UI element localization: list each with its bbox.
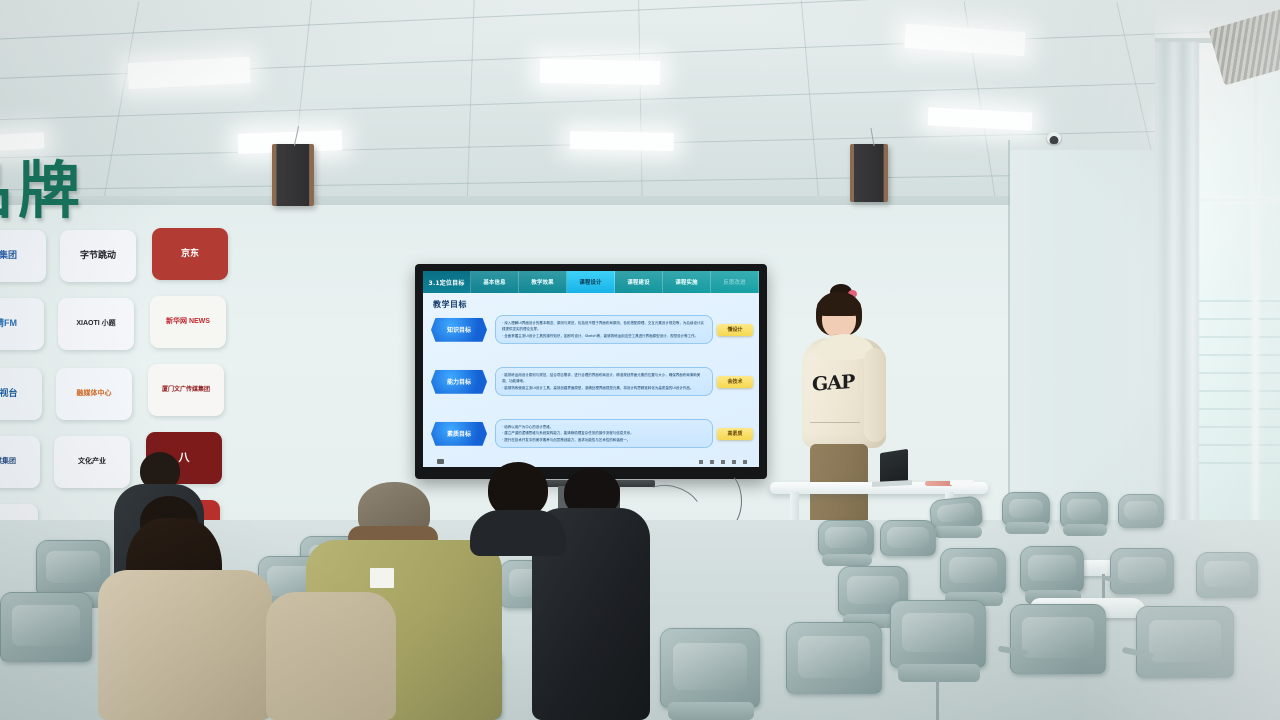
logo-label: 新华网 NEWS (166, 318, 210, 326)
tab-course-design[interactable]: 课程设计 (567, 271, 615, 293)
student-jacket-label (370, 568, 394, 588)
goal-line: · 深入理解UI界面设计的基本概念、原则与规范，包括但不限于界面布局原则、色彩搭… (502, 320, 706, 333)
presenter: GAP (786, 286, 898, 536)
classroom-scene: 品牌 集团 字节跳动 京东 蜻FM XIAOTI 小题 新华网 NEWS 电视台… (0, 0, 1280, 720)
logo-label: 电视台 (0, 389, 18, 399)
logo-label: XIAOTI 小题 (76, 320, 115, 328)
goal-row-ability: 能力目标 · 能熟练运用设计原则与规范，结合项目需求，进行合理的界面布局设计，精… (431, 367, 753, 396)
display-power-led (437, 459, 444, 464)
wall-corner (1008, 140, 1010, 550)
student-head-front-center (470, 462, 566, 552)
slide-heading: 教学目标 (433, 299, 467, 310)
presenter-hoodie-pocket (810, 422, 860, 445)
slide-tab-bar: 3.1定位目标 基本信息 教学效果 课程设计 课程建设 课程实施 反思改进 (423, 271, 759, 293)
logo-card: 集团 (0, 230, 46, 282)
student-coat (98, 570, 272, 720)
goal-pill-knowledge: 知识目标 (431, 318, 487, 342)
dome-camera-icon (1047, 132, 1061, 144)
wall-speaker-right (850, 144, 888, 202)
goal-tag-technology: 会技术 (717, 376, 753, 388)
ceiling-light (540, 59, 660, 85)
logo-card: 京东 (152, 228, 228, 280)
logo-card: 传媒集团 (0, 436, 40, 488)
logo-card: 新华网 NEWS (150, 296, 226, 348)
window-mullion-vertical (1253, 62, 1258, 522)
ceiling-light (570, 131, 674, 151)
goal-pill-ability: 能力目标 (431, 370, 487, 394)
presenter-hair-front (817, 296, 861, 316)
logo-label: 文化产业 (78, 458, 106, 466)
goal-bubble-quality: · 培养以用户为中心的设计思维。 · 建立严谨的逻辑思维与系统架构能力，能清晰梳… (495, 419, 713, 448)
student-coat (266, 592, 396, 720)
goal-line: · 能够熟练使用主流UI设计工具，高效创建界面原型，准确处理界面视觉元素，将设计… (502, 385, 706, 391)
presentation-display[interactable]: 3.1定位目标 基本信息 教学效果 课程设计 课程建设 课程实施 反思改进 教学… (415, 264, 767, 479)
goal-line: · 全面掌握主流UI设计工具的操作知识，如即时设计、Sketch等，能够熟练运用… (502, 333, 706, 339)
logo-label: 融媒体中心 (77, 390, 112, 398)
window-curtain (1155, 42, 1199, 560)
goal-row-knowledge: 知识目标 · 深入理解UI界面设计的基本概念、原则与规范，包括但不限于界面布局原… (431, 315, 753, 344)
goal-pill-quality: 素质目标 (431, 422, 487, 446)
goal-bubble-ability: · 能熟练运用设计原则与规范，结合项目需求，进行合理的界面布局设计，精准规划界面… (495, 367, 713, 396)
logo-label: 传媒集团 (0, 458, 16, 466)
wall-banner-text: 品牌 (0, 140, 86, 230)
tab-reflection-improvement[interactable]: 反思改进 (711, 271, 759, 293)
slide-screen: 3.1定位目标 基本信息 教学效果 课程设计 课程建设 课程实施 反思改进 教学… (423, 271, 759, 467)
student-right-edge (266, 592, 396, 720)
tab-locate-goal[interactable]: 3.1定位目标 (423, 271, 471, 293)
student-shoulders (470, 510, 566, 556)
tab-course-implementation[interactable]: 课程实施 (663, 271, 711, 293)
right-wall (1010, 150, 1160, 550)
logo-card: 融媒体中心 (56, 368, 132, 420)
goal-tag-quality: 高素质 (717, 428, 753, 440)
goal-tag-design: 懂设计 (717, 324, 753, 336)
student-beige-coat (92, 496, 272, 720)
presenter-arm (864, 348, 886, 442)
wall-speaker-left (272, 144, 314, 206)
desk-item-pink (925, 481, 953, 486)
goal-line: · 能熟练运用设计原则与规范，结合项目需求，进行合理的界面布局设计，精准规划界面… (502, 372, 706, 385)
goal-bubble-knowledge: · 深入理解UI界面设计的基本概念、原则与规范，包括但不限于界面布局原则、色彩搭… (495, 315, 713, 344)
desk-paper (950, 480, 974, 485)
display-button-strip[interactable] (699, 460, 747, 464)
logo-card: 蜻FM (0, 298, 44, 350)
logo-card: XIAOTI 小题 (58, 298, 134, 350)
logo-card: 电视台 (0, 368, 42, 420)
logo-label: 京东 (181, 249, 199, 259)
tab-course-construction[interactable]: 课程建设 (615, 271, 663, 293)
logo-label: 厦门文广传媒集团 (162, 387, 210, 394)
logo-card: 字节跳动 (60, 230, 136, 282)
logo-label: 集团 (0, 251, 17, 261)
tab-teaching-effect[interactable]: 教学效果 (519, 271, 567, 293)
slide-content: 教学目标 知识目标 · 深入理解UI界面设计的基本概念、原则与规范，包括但不限于… (423, 293, 759, 467)
logo-label: 字节跳动 (80, 251, 116, 261)
hoodie-logo-text: GAP (812, 370, 862, 395)
goal-row-quality: 素质目标 · 培养以用户为中心的设计思维。 · 建立严谨的逻辑思维与系统架构能力… (431, 419, 753, 448)
window-area (1155, 0, 1280, 560)
goal-line: · 提升在技术开发中的美学素养与创意策划能力，追求功能性与艺术性的和谐统一。 (502, 437, 706, 443)
logo-label: 蜻FM (0, 319, 17, 329)
logo-card: 厦门文广传媒集团 (148, 364, 224, 416)
tab-basic-info[interactable]: 基本信息 (471, 271, 519, 293)
